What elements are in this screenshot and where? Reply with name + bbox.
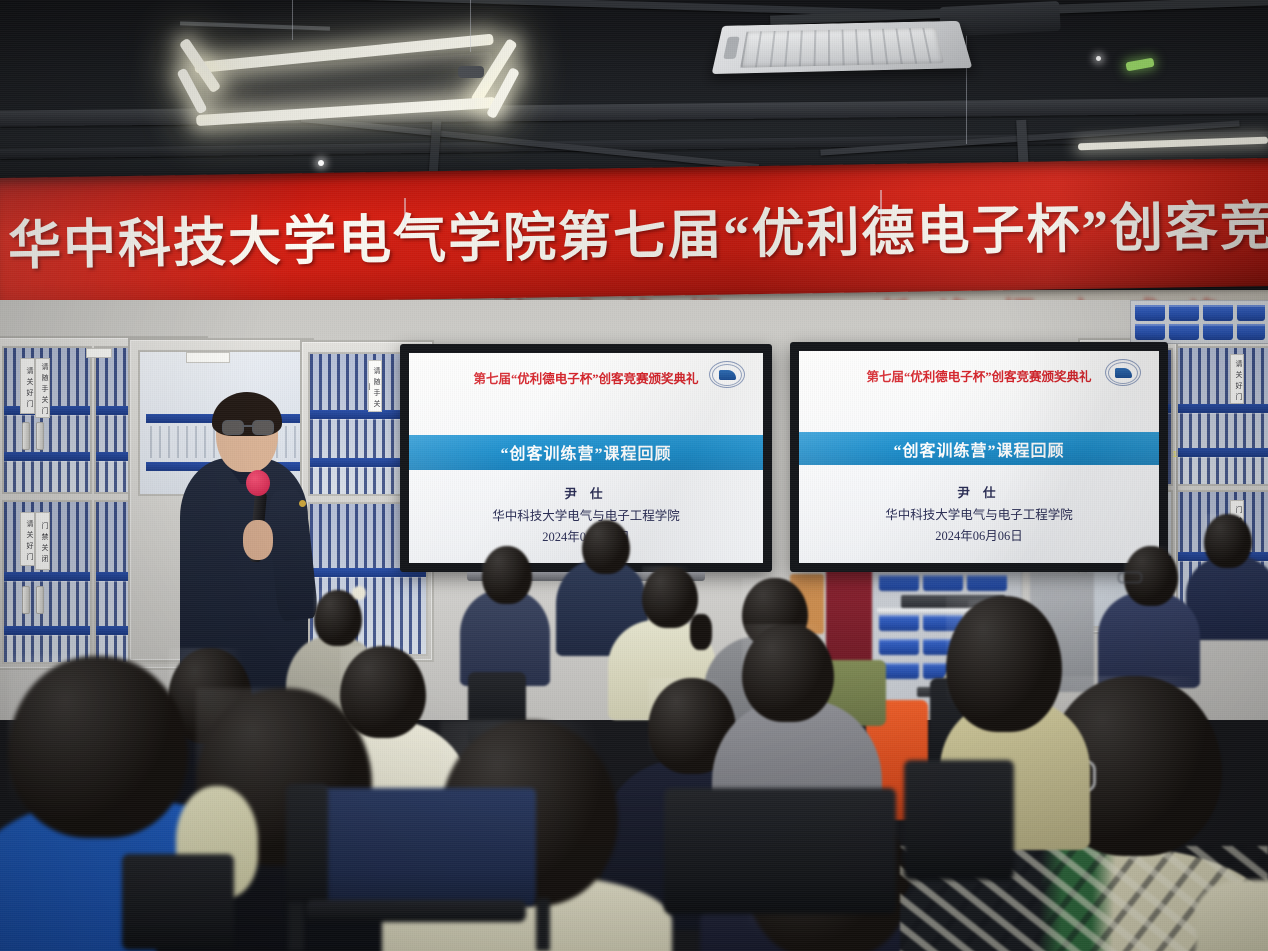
presentation-slide: 第七届“优利德电子杯”创客竞赛颁奖典礼 “创客训练营”课程回顾 尹 仕 华中科技… xyxy=(799,351,1159,563)
cabinet-handle[interactable] xyxy=(36,422,44,450)
cabinet-glass-door[interactable] xyxy=(1169,346,1268,486)
air-conditioner-icon xyxy=(712,21,973,74)
hair-tie xyxy=(352,586,366,600)
suspension-wire xyxy=(292,0,293,40)
cabinet-notice-label: 门 禁 关 闭 xyxy=(35,512,50,570)
point-light-icon xyxy=(1096,56,1101,61)
ac-vent xyxy=(723,37,740,59)
suspension-wire xyxy=(966,24,967,144)
chair[interactable] xyxy=(664,788,896,914)
audience-shoulder xyxy=(1196,880,1268,951)
slide-date: 2024年06月06日 xyxy=(799,525,1159,544)
event-banner: 华中科技大学电气学院第七届“优利德电子杯”创客竞赛颁奖典 xyxy=(0,158,1268,306)
cabinet-notice-label: 请 关 好 门 xyxy=(20,358,35,414)
chair-leg xyxy=(536,898,550,951)
slide-band-text: “创客训练营”课程回顾 xyxy=(893,437,1064,461)
chair-leg xyxy=(288,902,304,951)
slide-page-number: 1 xyxy=(1173,450,1177,459)
slide-title-band: “创客训练营”课程回顾 xyxy=(799,432,1159,466)
photo-scene: 恪 成 逸 悟 2016 任 逸 悟 文 成 逸 华中科技大学电气学院第七届“优… xyxy=(0,0,1268,951)
parts-bins xyxy=(1171,348,1268,484)
slide-organization: 华中科技大学电气与电子工程学院 xyxy=(799,504,1159,523)
eyeglasses-icon xyxy=(222,420,274,433)
cabinet-tag xyxy=(186,352,230,363)
ac-grille xyxy=(740,28,944,68)
banner-hanger xyxy=(880,190,882,216)
cabinet-tag xyxy=(86,348,112,358)
right-display[interactable]: 第七届“优利德电子杯”创客竞赛颁奖典礼 “创客训练营”课程回顾 尹 仕 华中科技… xyxy=(790,342,1168,572)
point-light-icon xyxy=(318,160,324,166)
ceiling-rail xyxy=(180,21,330,30)
slide-band-text: “创客训练营”课程回顾 xyxy=(500,440,671,464)
banner-text: 华中科技大学电气学院第七届“优利德电子杯”创客竞赛颁奖典 xyxy=(7,183,1268,280)
speaker-hand xyxy=(243,520,273,560)
chair[interactable] xyxy=(904,760,1014,880)
slide-presenter-name: 尹 仕 xyxy=(409,483,763,502)
slide-footer: 尹 仕 华中科技大学电气与电子工程学院 2024年06月06日 xyxy=(799,482,1159,544)
chair[interactable] xyxy=(122,854,234,950)
upper-shelf xyxy=(1130,300,1268,344)
cabinet-handle[interactable] xyxy=(36,586,44,614)
slide-title-band: “创客训练营”课程回顾 xyxy=(409,435,763,470)
slide-presenter-name: 尹 仕 xyxy=(799,482,1159,501)
cabinet-notice-label: 请 随 手 关 门 xyxy=(368,360,382,412)
shirt-badge xyxy=(299,500,306,507)
cabinet-notice-label: 请 关 好 门 xyxy=(20,512,35,566)
light-mount xyxy=(458,66,484,78)
ac-face xyxy=(740,28,944,68)
cabinet-notice-label: 请 随 手 关 门 xyxy=(35,358,50,418)
eyeglasses-icon xyxy=(1118,572,1142,583)
hexagonal-led-light-icon xyxy=(128,40,558,140)
cabinet-handle[interactable] xyxy=(22,586,30,614)
chair-seat[interactable] xyxy=(306,900,526,922)
banner-hanger xyxy=(404,198,406,224)
chair-blue[interactable] xyxy=(296,788,536,906)
suspension-wire xyxy=(470,0,471,52)
cabinet-handle[interactable] xyxy=(22,422,30,450)
cabinet-notice-label: 请 关 好 门 xyxy=(1230,354,1244,404)
chair-frame[interactable] xyxy=(286,784,328,916)
microphone-icon xyxy=(246,470,270,496)
green-indicator-light-icon xyxy=(1125,58,1154,72)
